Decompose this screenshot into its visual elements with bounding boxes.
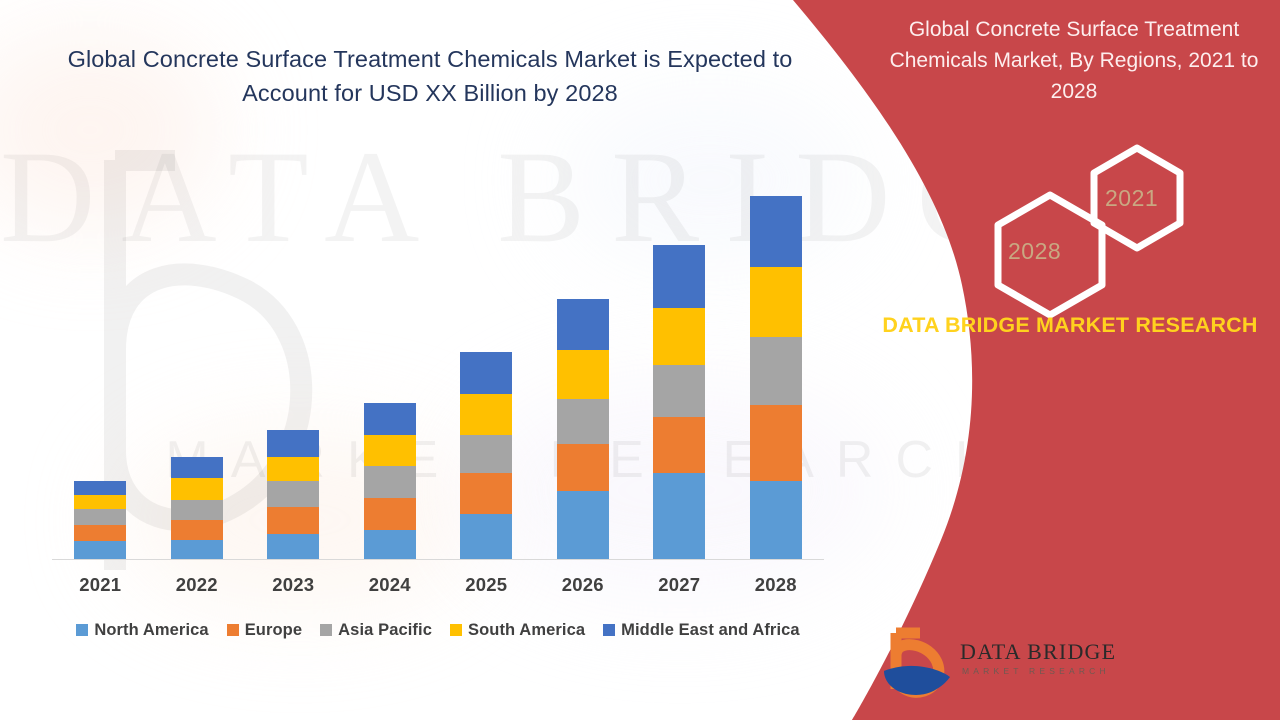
legend-swatch-icon	[76, 624, 88, 636]
bar-segment	[653, 308, 705, 364]
legend-label: South America	[468, 621, 585, 640]
bar-segment	[460, 394, 512, 435]
bar-segment	[74, 509, 126, 525]
bar-segment	[557, 350, 609, 399]
bar-segment	[557, 444, 609, 491]
legend-label: Asia Pacific	[338, 621, 432, 640]
bar-column	[631, 170, 727, 559]
legend-label: Middle East and Africa	[621, 621, 800, 640]
bar-segment	[750, 267, 802, 337]
legend-item[interactable]: Middle East and Africa	[603, 621, 800, 640]
bar-segment	[267, 457, 319, 481]
bar-segment	[267, 534, 319, 559]
dbmr-logo-mark-icon	[880, 627, 960, 699]
x-axis-label: 2022	[149, 574, 245, 596]
legend-swatch-icon	[603, 624, 615, 636]
bar-segment	[557, 399, 609, 445]
bar-segment	[750, 405, 802, 481]
brand-name: DATA BRIDGE MARKET RESEARCH	[870, 310, 1270, 341]
legend-item[interactable]: North America	[76, 621, 208, 640]
legend-swatch-icon	[320, 624, 332, 636]
bar-segment	[557, 491, 609, 559]
legend-swatch-icon	[227, 624, 239, 636]
legend-label: Europe	[245, 621, 302, 640]
stacked-bar	[460, 352, 512, 559]
legend-item[interactable]: South America	[450, 621, 585, 640]
legend-swatch-icon	[450, 624, 462, 636]
x-axis-label: 2028	[728, 574, 824, 596]
bar-column	[438, 170, 534, 559]
chart-legend: North AmericaEuropeAsia PacificSouth Ame…	[52, 615, 824, 645]
bar-segment	[364, 403, 416, 434]
bar-segment	[750, 196, 802, 267]
bar-segment	[364, 498, 416, 530]
panel-title: Global Concrete Surface Treatment Chemic…	[874, 14, 1274, 107]
x-axis-label: 2026	[535, 574, 631, 596]
chart-title: Global Concrete Surface Treatment Chemic…	[60, 42, 800, 110]
bar-segment	[364, 530, 416, 559]
legend-label: North America	[94, 621, 208, 640]
bar-segment	[74, 541, 126, 559]
bar-segment	[74, 481, 126, 495]
legend-item[interactable]: Asia Pacific	[320, 621, 432, 640]
bar-segment	[460, 352, 512, 394]
x-axis-line	[52, 559, 824, 560]
bar-segment	[74, 495, 126, 510]
bar-segment	[171, 520, 223, 539]
bar-column	[342, 170, 438, 559]
bar-segment	[557, 299, 609, 350]
bar-segment	[653, 473, 705, 559]
stacked-bar	[267, 430, 319, 559]
bar-column	[535, 170, 631, 559]
bar-segment	[750, 481, 802, 559]
dbmr-logo: DATA BRIDGE MARKET RESEARCH	[880, 625, 1130, 705]
bar-segment	[267, 481, 319, 507]
x-axis-label: 2021	[52, 574, 148, 596]
dbmr-logo-text-sub: MARKET RESEARCH	[962, 666, 1110, 676]
x-axis-label: 2027	[631, 574, 727, 596]
x-axis-label: 2025	[438, 574, 534, 596]
bar-segment	[74, 525, 126, 541]
x-axis-label: 2023	[245, 574, 341, 596]
bar-segment	[653, 417, 705, 473]
bar-segment	[460, 514, 512, 559]
panel-content: Global Concrete Surface Treatment Chemic…	[860, 0, 1280, 720]
bar-segment	[171, 478, 223, 499]
bar-segment	[364, 435, 416, 466]
stacked-bar	[74, 481, 126, 559]
hexagon-2028-label: 2028	[1008, 238, 1061, 265]
bar-segment	[750, 337, 802, 405]
slide-canvas: DATA BRIDGE MARKET RESEARCH Global Concr…	[0, 0, 1280, 720]
bar-chart-plot	[52, 170, 824, 559]
bar-column	[52, 170, 148, 559]
bar-column	[245, 170, 341, 559]
bar-segment	[653, 365, 705, 418]
x-axis-label: 2024	[342, 574, 438, 596]
bar-segment	[267, 430, 319, 457]
legend-item[interactable]: Europe	[227, 621, 302, 640]
bar-segment	[267, 507, 319, 533]
stacked-bar	[171, 457, 223, 559]
bar-segment	[460, 435, 512, 474]
x-axis-labels: 20212022202320242025202620272028	[52, 570, 824, 600]
bar-segment	[171, 500, 223, 520]
hexagon-group: 2021 2028	[860, 145, 1280, 295]
stacked-bar	[750, 196, 802, 559]
bar-segment	[171, 540, 223, 559]
bar-column	[728, 170, 824, 559]
bar-segment	[460, 473, 512, 514]
stacked-bar	[557, 299, 609, 559]
bar-segment	[364, 466, 416, 498]
bar-segment	[171, 457, 223, 478]
stacked-bar	[653, 245, 705, 559]
dbmr-logo-text-main: DATA BRIDGE	[960, 639, 1116, 665]
bar-column	[149, 170, 245, 559]
stacked-bar	[364, 403, 416, 559]
bar-segment	[653, 245, 705, 308]
